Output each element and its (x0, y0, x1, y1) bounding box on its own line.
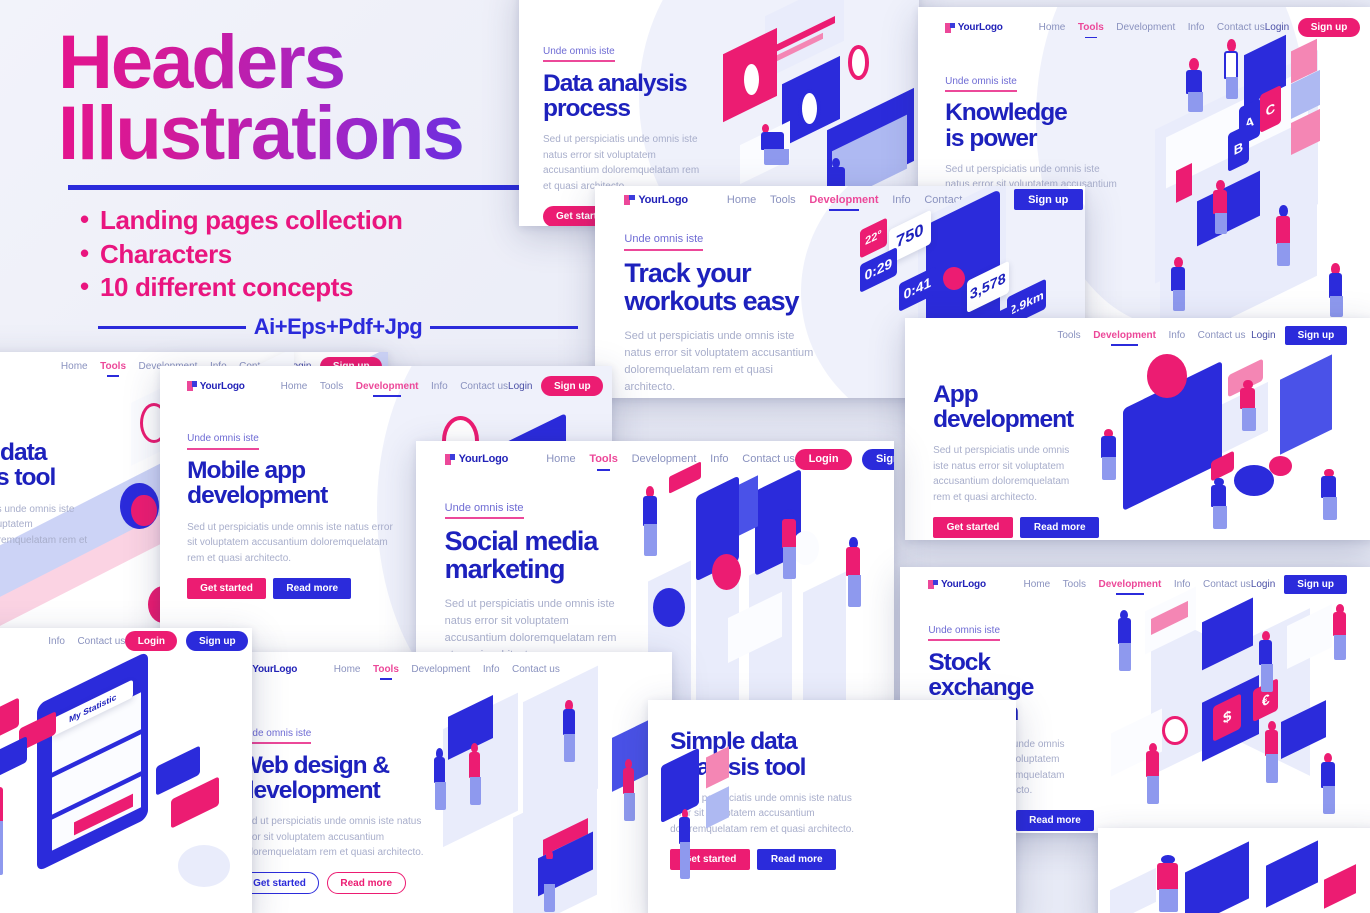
nav-item-info[interactable]: Info (483, 664, 500, 675)
landing-card-messaging[interactable]: Info Contact us Login Sign up My Statist… (0, 628, 252, 913)
nav-links: Home Tools Development Info Contact us (1039, 22, 1265, 33)
nav-item-tools[interactable]: Tools (320, 381, 343, 392)
formats-rule-right (430, 326, 578, 329)
logo-label: YourLogo (252, 664, 297, 675)
list-item: Characters (80, 238, 578, 271)
page-title: Mobile app development (187, 458, 395, 508)
nav-links: Info Contact us (48, 636, 125, 647)
signup-button[interactable]: Sign up (1298, 18, 1360, 37)
landing-card-app-development[interactable]: Tools Development Info Contact us Login … (905, 318, 1370, 540)
body-text: Sed ut perspiciatis unde omnis iste natu… (0, 502, 89, 564)
nav-links: Home Tools Development Info Contact us (1023, 579, 1250, 590)
navbar: YourLogo Home Tools Development Info Con… (900, 567, 1370, 602)
nav-item-info[interactable]: Info (1174, 579, 1191, 590)
eyebrow-label: Unde omnis iste (187, 433, 259, 449)
signup-button[interactable]: Sign up (1014, 189, 1083, 210)
navbar: YourLogo Home Tools Development Info Con… (160, 366, 612, 406)
body-text: Sed ut perspiciatis unde omnis iste natu… (670, 791, 869, 838)
nav-item-development[interactable]: Development (1093, 330, 1156, 341)
logo-mark-icon (445, 454, 455, 464)
eyebrow-label: Unde omnis iste (928, 625, 1000, 641)
nav-item-info[interactable]: Info (1188, 22, 1205, 33)
hero-formats: Ai+Eps+Pdf+Jpg (98, 314, 578, 340)
nav-item-contact[interactable]: Contact us (512, 664, 560, 675)
get-started-button[interactable]: Get started (670, 849, 750, 870)
page-title: Track your workouts easy (624, 260, 820, 316)
eyebrow-label: Unde omnis iste (445, 502, 524, 520)
page-title: Knowledge is power (945, 100, 1126, 150)
nav-links: Home Tools Development Info Contact us (727, 194, 977, 206)
nav-item-home[interactable]: Home (1023, 579, 1050, 590)
login-link[interactable]: Login (508, 381, 532, 392)
signup-button[interactable]: Sign up (541, 376, 603, 395)
signup-button[interactable]: Sign up (862, 449, 894, 470)
read-more-button[interactable]: Read more (273, 578, 351, 599)
read-more-button[interactable]: Read more (757, 849, 836, 870)
landing-card-shopping[interactable] (1098, 828, 1370, 913)
nav-item-home[interactable]: Home (546, 453, 575, 465)
nav-item-home[interactable]: Home (61, 361, 88, 372)
logo[interactable]: YourLogo (624, 194, 687, 206)
logo-mark-icon (624, 195, 634, 205)
body-text: Sed ut perspiciatis unde omnis iste natu… (933, 443, 1083, 505)
nav-item-development[interactable]: Development (356, 381, 419, 392)
nav-item-tools[interactable]: Tools (1057, 330, 1080, 341)
logo-label: YourLogo (941, 579, 986, 590)
nav-item-tools[interactable]: Tools (1078, 22, 1104, 33)
body-text: Sed ut perspiciatis unde omnis iste natu… (624, 328, 820, 396)
logo-mark-icon (928, 580, 938, 590)
currency-dollar: $ (1213, 693, 1241, 741)
nav-item-info[interactable]: Info (892, 194, 910, 206)
nav-item-contact[interactable]: Contact us (1203, 579, 1251, 590)
nav-item-development[interactable]: Development (1099, 579, 1162, 590)
poster-canvas: Headers Illustrations Landing pages coll… (0, 0, 1370, 913)
nav-item-info[interactable]: Info (710, 453, 728, 465)
logo-label: YourLogo (459, 453, 509, 465)
nav-item-development[interactable]: Development (632, 453, 697, 465)
nav-item-home[interactable]: Home (334, 664, 361, 675)
illustration-shopping (1098, 828, 1370, 913)
nav-item-home[interactable]: Home (281, 381, 308, 392)
login-link[interactable]: Login (1251, 579, 1275, 590)
body-text: Sed ut perspiciatis unde omnis iste natu… (543, 132, 703, 194)
page-title: Web design & development (240, 753, 433, 803)
body-text: Sed ut perspiciatis unde omnis iste natu… (240, 814, 433, 861)
nav-item-info[interactable]: Info (48, 636, 65, 647)
login-button[interactable]: Login (795, 449, 852, 470)
read-more-button[interactable]: Read more (1016, 810, 1095, 831)
nav-links: Tools Development Info Contact us (1057, 330, 1245, 341)
nav-item-contact[interactable]: Contact us (77, 636, 125, 647)
logo-mark-icon (187, 381, 197, 391)
illustration-messaging: My Statistic (0, 657, 252, 913)
illustration-stock-exchange: $ € (1089, 567, 1370, 833)
nav-item-contact[interactable]: Contact us (742, 453, 795, 465)
currency-euro: € (1253, 678, 1278, 722)
formats-label: Ai+Eps+Pdf+Jpg (254, 314, 422, 340)
read-more-button[interactable]: Read more (1020, 517, 1099, 538)
panel-title: My Statistic (52, 679, 133, 737)
hero-title-line2: Illustrations (58, 99, 578, 170)
nav-item-tools[interactable]: Tools (770, 194, 796, 206)
login-button[interactable]: Login (125, 631, 177, 650)
nav-item-contact[interactable]: Contact us (1217, 22, 1265, 33)
formats-rule-left (98, 326, 246, 329)
nav-item-development[interactable]: Development (809, 194, 878, 206)
body-text: Sed ut perspiciatis unde omnis iste natu… (187, 520, 395, 567)
get-started-button[interactable]: Get started (933, 517, 1013, 538)
nav-links: Home Tools Development Info Contact us (334, 664, 560, 675)
nav-item-contact[interactable]: Contact us (460, 381, 508, 392)
nav-item-home[interactable]: Home (1039, 22, 1066, 33)
logo-label: YourLogo (638, 194, 688, 206)
navbar: YourLogo Home Tools Development Info Con… (918, 7, 1370, 49)
nav-item-info[interactable]: Info (1168, 330, 1185, 341)
nav-item-tools[interactable]: Tools (100, 361, 126, 372)
nav-item-tools[interactable]: Tools (1063, 579, 1086, 590)
hero-feature-list: Landing pages collection Characters 10 d… (80, 204, 578, 304)
nav-links: Home Tools Development Info Contact us (281, 381, 508, 392)
nav-item-contact[interactable]: Contact us (924, 194, 977, 206)
navbar: YourLogo Home Tools Development Info Con… (595, 186, 1085, 214)
list-item: Landing pages collection (80, 204, 578, 237)
nav-item-home[interactable]: Home (727, 194, 756, 206)
page-title: Simple data analysis tool (670, 729, 869, 779)
illustration-web-design (424, 652, 672, 913)
logo[interactable]: YourLogo (928, 579, 986, 590)
logo[interactable]: YourLogo (445, 453, 508, 465)
read-more-button[interactable]: Read more (327, 872, 406, 894)
navbar: Info Contact us Login Sign up (0, 628, 252, 654)
signup-button[interactable]: Sign up (1284, 575, 1347, 594)
nav-links: Home Tools Development Info Contact us (546, 453, 795, 465)
hero-block: Headers Illustrations Landing pages coll… (58, 28, 578, 340)
get-started-button[interactable]: Get started (187, 578, 266, 599)
signup-button[interactable]: Sign up (186, 631, 248, 650)
navbar: YourLogo Home Tools Development Info Con… (212, 652, 672, 687)
logo[interactable]: YourLogo (187, 381, 245, 392)
landing-card-web-design[interactable]: YourLogo Home Tools Development Info Con… (212, 652, 672, 913)
navbar: YourLogo Home Tools Development Info Con… (416, 441, 894, 478)
signup-button[interactable]: Sign up (1285, 326, 1348, 345)
login-link[interactable]: Login (1251, 330, 1275, 341)
login-link[interactable]: Login (1265, 22, 1289, 33)
logo-label: YourLogo (200, 381, 245, 392)
hero-divider (68, 185, 558, 190)
nav-item-development[interactable]: Development (411, 664, 470, 675)
eyebrow-label: Unde omnis iste (945, 76, 1017, 92)
logo-label: YourLogo (958, 22, 1003, 33)
eyebrow-label: Unde omnis iste (543, 46, 615, 62)
page-title: Data analysis process (543, 71, 703, 121)
list-item: 10 different concepts (80, 271, 578, 304)
login-link[interactable]: Login (977, 194, 1004, 206)
logo[interactable]: YourLogo (945, 22, 1003, 33)
eyebrow-label: Unde omnis iste (624, 233, 703, 251)
hero-title-line1: Headers (58, 28, 578, 99)
nav-item-tools[interactable]: Tools (589, 453, 618, 465)
nav-item-development[interactable]: Development (1116, 22, 1175, 33)
nav-item-contact[interactable]: Contact us (1198, 330, 1246, 341)
landing-card-analysis-tool[interactable]: Simple data analysis tool Sed ut perspic… (648, 700, 1016, 913)
logo-mark-icon (945, 23, 955, 33)
page-title: App development (933, 382, 1083, 432)
nav-item-info[interactable]: Info (431, 381, 448, 392)
page-title: Simple data analysis tool (0, 440, 89, 490)
nav-item-tools[interactable]: Tools (373, 664, 399, 675)
page-title: Social media marketing (445, 528, 617, 584)
navbar: Tools Development Info Contact us Login … (905, 318, 1370, 354)
